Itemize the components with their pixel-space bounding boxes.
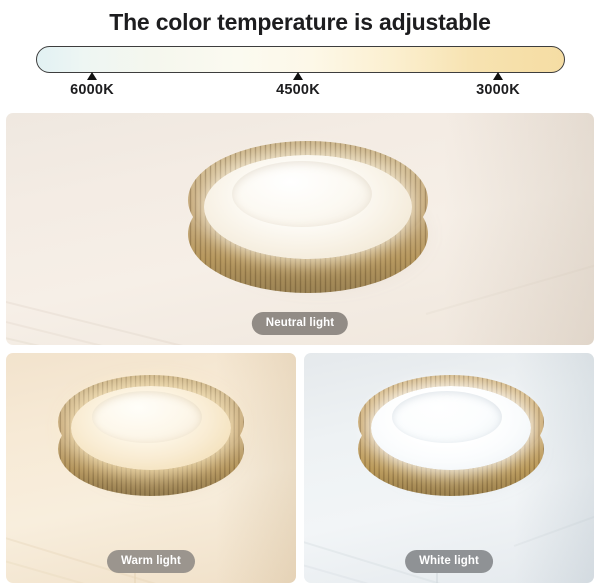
scale-marker-4500k — [293, 72, 303, 80]
panel-neutral-light[interactable]: Neutral light — [6, 113, 594, 345]
panel-row: Warm light White light — [6, 353, 594, 583]
page-title: The color temperature is adjustable — [0, 0, 600, 36]
scale-label-4500k: 4500K — [276, 82, 320, 98]
ceiling-lamp-white — [358, 375, 544, 501]
panel-badge-warm: Warm light — [107, 550, 195, 573]
panel-warm-light[interactable]: Warm light — [6, 353, 296, 583]
color-temperature-scale: 6000K 4500K 3000K — [0, 44, 600, 106]
lamp-inner-dome — [92, 391, 202, 443]
lamp-inner-dome — [392, 391, 502, 443]
scale-label-6000k: 6000K — [70, 82, 114, 98]
panel-badge-neutral: Neutral light — [252, 312, 348, 335]
panel-white-light[interactable]: White light — [304, 353, 594, 583]
scale-marker-3000k — [493, 72, 503, 80]
ceiling-lamp-warm — [58, 375, 244, 501]
lamp-inner-dome — [232, 161, 372, 227]
product-image-gallery: Neutral light Warm light — [6, 113, 594, 583]
scale-label-3000k: 3000K — [476, 82, 520, 98]
wall-shading — [444, 113, 594, 345]
panel-badge-white: White light — [405, 550, 493, 573]
scale-marker-6000k — [87, 72, 97, 80]
temperature-gradient-bar[interactable] — [36, 46, 565, 73]
ceiling-lamp-neutral — [188, 141, 428, 301]
